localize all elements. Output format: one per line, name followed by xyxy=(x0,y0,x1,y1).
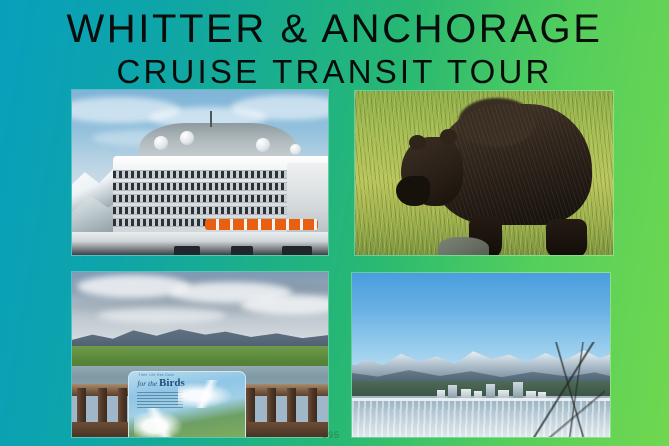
photo-anchorage-skyline[interactable] xyxy=(352,273,610,437)
poster-title-primary: WHITTER & ANCHORAGE xyxy=(0,6,669,52)
poster-title-block: WHITTER & ANCHORAGE CRUISE TRANSIT TOUR xyxy=(0,0,669,92)
boardwalk-cloud xyxy=(98,308,226,323)
ship-radar-dome xyxy=(290,144,301,155)
poster-watermark: 195 xyxy=(322,430,340,440)
photo-bird-boardwalk-content: Their Life Has Gone for the Birds xyxy=(72,272,328,437)
poster-title-secondary: CRUISE TRANSIT TOUR xyxy=(0,52,669,92)
ship-dock-vehicle xyxy=(282,246,312,255)
sign-headline-prefix: for the xyxy=(137,379,157,388)
ship-radar-dome xyxy=(180,131,194,145)
ship-mast xyxy=(210,111,212,127)
bear-hind-leg xyxy=(546,219,587,255)
photo-cruise-ship-content xyxy=(72,90,328,255)
photo-brown-bear[interactable] xyxy=(355,91,613,255)
sign-flying-bird-illustration xyxy=(178,380,240,408)
sign-swan-illustration xyxy=(134,408,187,437)
anchorage-bare-branches xyxy=(527,342,604,437)
photo-brown-bear-content xyxy=(355,91,613,255)
photo-cruise-ship[interactable] xyxy=(72,90,328,255)
bear-snout xyxy=(396,176,430,206)
photo-anchorage-skyline-content xyxy=(352,273,610,437)
bird-interpretive-sign[interactable]: Their Life Has Gone for the Birds xyxy=(128,371,245,437)
sign-body-text-lines xyxy=(137,392,183,409)
bear-rock xyxy=(438,237,490,255)
photo-bird-boardwalk[interactable]: Their Life Has Gone for the Birds xyxy=(72,272,328,437)
ship-lifeboats xyxy=(205,219,318,230)
ship-dock-vehicle xyxy=(231,246,253,255)
ship-cloud xyxy=(231,95,328,120)
poster-canvas: WHITTER & ANCHORAGE CRUISE TRANSIT TOUR xyxy=(0,0,669,446)
ship-dock-vehicle xyxy=(174,246,200,255)
boardwalk-cloud xyxy=(241,295,328,315)
ship-radar-dome xyxy=(154,136,168,150)
bear-ear xyxy=(440,129,457,144)
